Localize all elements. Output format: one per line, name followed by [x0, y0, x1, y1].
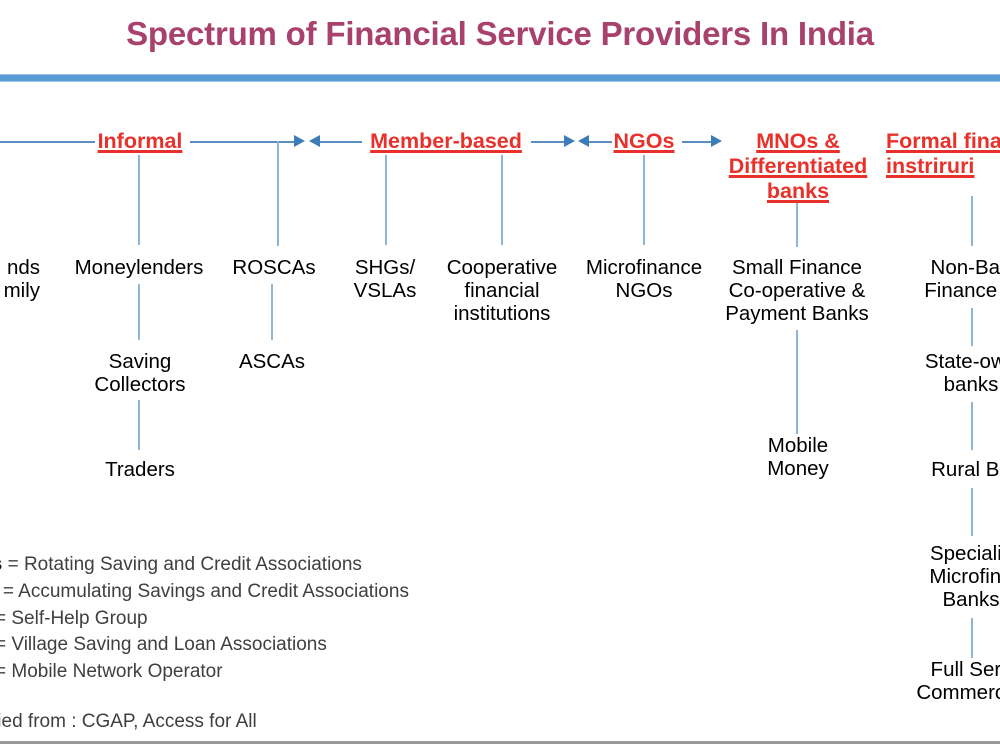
arrow-left-member-based — [309, 135, 320, 147]
connector-moneylenders-to-saving-collectors — [138, 284, 140, 340]
node-saving-collectors-line2: Collectors — [62, 373, 218, 396]
node-friends-family-line1: nds — [0, 256, 40, 279]
title-divider-rule — [0, 74, 1000, 82]
column-header-member-based[interactable]: Member-based — [370, 129, 522, 154]
node-microfinance-ngos: Microfinance NGOs — [572, 256, 716, 302]
column-header-member-based-label: Member-based — [370, 129, 522, 153]
connector-specialist-to-full-service-commercial — [971, 618, 973, 658]
divider-informal-member — [277, 141, 279, 246]
connector-member-to-shgs — [385, 155, 387, 245]
connector-mnos-to-small-finance — [796, 203, 798, 247]
arrow-right-member-based — [564, 135, 575, 147]
legend-item-mno: = Mobile Network Operator — [0, 661, 223, 682]
node-microfinance-ngos-line1: Microfinance — [572, 256, 716, 279]
legend-text-shg: = Self-Help Group — [0, 608, 148, 629]
connector-member-to-cooperative — [501, 155, 503, 245]
connector-member-to-ngos — [531, 141, 568, 143]
connector-roscas-to-ascas — [271, 284, 273, 340]
node-non-bank-finance-company: Non-Ban Finance C — [880, 256, 1000, 302]
node-nbfc-line2: Finance C — [880, 279, 1000, 302]
node-nbfc-line1: Non-Ban — [880, 256, 1000, 279]
node-rural-banks: Rural Ba — [880, 458, 1000, 481]
column-header-informal-label: Informal — [98, 129, 183, 153]
node-small-finance-line2: Co-operative & — [716, 279, 878, 302]
column-header-formal[interactable]: Formal fina instriruri — [886, 129, 1000, 179]
node-microfinance-ngos-line2: NGOs — [572, 279, 716, 302]
node-cooperative-financial-institutions: Cooperative financial institutions — [428, 256, 576, 325]
page-title: Spectrum of Financial Service Providers … — [126, 15, 874, 53]
column-header-formal-line2: instriruri — [886, 154, 974, 178]
connector-formal-to-nbfc — [971, 196, 973, 246]
node-specialist-line1: Specialis — [880, 542, 1000, 565]
node-small-finance-line1: Small Finance — [716, 256, 878, 279]
node-shgs-vslas-line1: SHGs/ — [332, 256, 438, 279]
column-header-formal-line1: Formal fina — [886, 129, 1000, 153]
node-ascas: ASCAs — [208, 350, 336, 373]
node-saving-collectors-line1: Saving — [62, 350, 218, 373]
connector-saving-collectors-to-traders — [138, 400, 140, 450]
column-header-mnos-line1: MNOs & — [756, 129, 840, 153]
node-cooperative-line3: institutions — [428, 302, 576, 325]
title-bar: Spectrum of Financial Service Providers … — [0, 0, 1000, 68]
node-full-service-line1: Full Serv — [880, 658, 1000, 681]
node-small-finance-banks: Small Finance Co-operative & Payment Ban… — [716, 256, 878, 325]
node-shgs-vslas: SHGs/ VSLAs — [332, 256, 438, 302]
connector-informal-to-moneylenders — [138, 155, 140, 245]
bottom-divider-rule — [0, 741, 1000, 744]
node-state-owned-banks: State-own banks — [880, 350, 1000, 396]
node-mobile-money-line2: Money — [722, 457, 874, 480]
legend-text-ascas: = Accumulating Savings and Credit Associ… — [0, 581, 409, 602]
node-moneylenders: Moneylenders — [60, 256, 218, 279]
node-small-finance-line3: Payment Banks — [716, 302, 878, 325]
node-traders: Traders — [62, 458, 218, 481]
column-header-mnos-line2: Differentiated — [729, 154, 868, 178]
node-shgs-vslas-line2: VSLAs — [332, 279, 438, 302]
node-cooperative-line1: Cooperative — [428, 256, 576, 279]
node-mobile-money: Mobile Money — [722, 434, 874, 480]
legend-text-roscas: = Rotating Saving and Credit Association… — [2, 554, 362, 575]
node-friends-family: nds mily — [0, 256, 40, 302]
column-header-ngos-label: NGOs — [614, 129, 675, 153]
legend-text-vsla: = Village Saving and Loan Associations — [0, 634, 327, 655]
column-header-mnos-line3: banks — [767, 179, 829, 203]
column-header-mnos[interactable]: MNOs & Differentiated banks — [714, 129, 882, 204]
node-specialist-line3: Banks — [880, 588, 1000, 611]
slide-canvas: Spectrum of Financial Service Providers … — [0, 0, 1000, 750]
node-saving-collectors: Saving Collectors — [62, 350, 218, 396]
arrow-right-informal — [294, 135, 305, 147]
node-roscas: ROSCAs — [210, 256, 338, 279]
legend-item-roscas: As = Rotating Saving and Credit Associat… — [0, 554, 362, 575]
connector-state-owned-to-rural-banks — [971, 402, 973, 450]
node-state-owned-line1: State-own — [880, 350, 1000, 373]
node-cooperative-line2: financial — [428, 279, 576, 302]
legend-item-ascas: s = Accumulating Savings and Credit Asso… — [0, 581, 409, 602]
legend-item-vsla: = Village Saving and Loan Associations — [0, 634, 327, 655]
node-mobile-money-line1: Mobile — [722, 434, 874, 457]
source-attribution: fied from : CGAP, Access for All — [0, 711, 257, 733]
column-header-ngos[interactable]: NGOs — [604, 129, 684, 154]
connector-nbfc-to-state-owned-banks — [971, 308, 973, 346]
column-header-informal[interactable]: Informal — [60, 129, 220, 154]
node-full-service-line2: Commercial — [880, 681, 1000, 704]
connector-small-finance-to-mobile-money — [796, 330, 798, 434]
connector-ngos-to-microfinance-ngos — [643, 155, 645, 245]
node-full-service-commercial-banks: Full Serv Commercial — [880, 658, 1000, 704]
connector-divider-to-member — [320, 141, 362, 143]
node-state-owned-line2: banks — [880, 373, 1000, 396]
node-specialist-microfinance-banks: Specialis Microfina Banks — [880, 542, 1000, 611]
connector-rural-to-specialist-microfinance — [971, 488, 973, 536]
arrow-left-ngos — [578, 135, 589, 147]
node-friends-family-line2: mily — [0, 279, 40, 302]
legend-text-mno: = Mobile Network Operator — [0, 661, 223, 682]
node-specialist-line2: Microfina — [880, 565, 1000, 588]
legend-item-shg: = Self-Help Group — [0, 608, 148, 629]
